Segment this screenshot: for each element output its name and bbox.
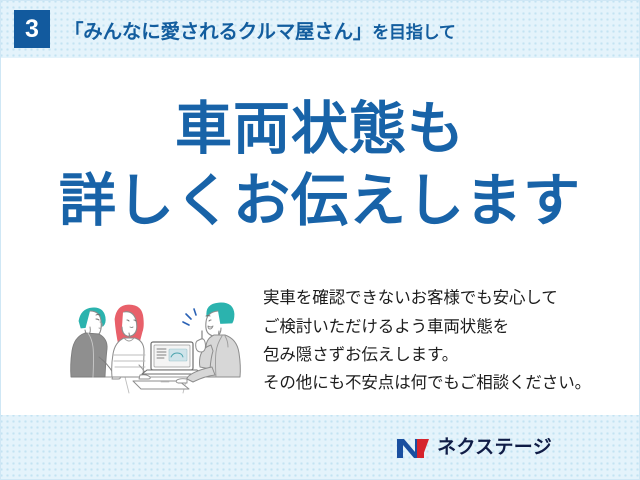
brand-name: ネクステージ xyxy=(437,438,552,457)
laptop-icon xyxy=(142,342,202,374)
brand-logo: ネクステージ xyxy=(396,436,552,460)
body-copy-line-1: 実車を確認できないお客様でも安心して xyxy=(263,284,591,312)
header-title: 「みんなに愛されるクルマ屋さん」を目指して xyxy=(64,15,456,44)
consultation-illustration xyxy=(55,281,255,401)
nextage-n-logo-icon xyxy=(396,436,430,460)
banner-header: 3 「みんなに愛されるクルマ屋さん」を目指して xyxy=(0,0,640,58)
headline-line-1: 車両状態も xyxy=(0,100,640,158)
promo-banner: 3 「みんなに愛されるクルマ屋さん」を目指して 車両状態も 詳しくお伝えします xyxy=(0,0,640,480)
banner-footer: ネクステージ xyxy=(0,415,640,480)
header-title-tail: を目指して xyxy=(372,23,456,42)
header-title-quoted: 「みんなに愛されるクルマ屋さん」 xyxy=(64,21,372,43)
speech-lines-icon xyxy=(183,309,196,325)
body-copy-line-4: その他にも不安点は何でもご相談ください。 xyxy=(263,369,591,397)
illustration-svg xyxy=(55,281,255,401)
headline-line-2: 詳しくお伝えします xyxy=(0,172,640,230)
body-copy-line-3: 包み隠さずお伝えします。 xyxy=(263,341,591,369)
content-card: 車両状態も 詳しくお伝えします xyxy=(0,58,640,415)
body-copy: 実車を確認できないお客様でも安心して ご検討いただけるよう車両状態を 包み隠さず… xyxy=(263,284,591,398)
headline: 車両状態も 詳しくお伝えします xyxy=(0,100,640,230)
lower-section: 実車を確認できないお客様でも安心して ご検討いただけるよう車両状態を 包み隠さず… xyxy=(0,276,640,406)
body-copy-line-2: ご検討いただけるよう車両状態を xyxy=(263,313,591,341)
step-number-badge: 3 xyxy=(14,10,50,48)
